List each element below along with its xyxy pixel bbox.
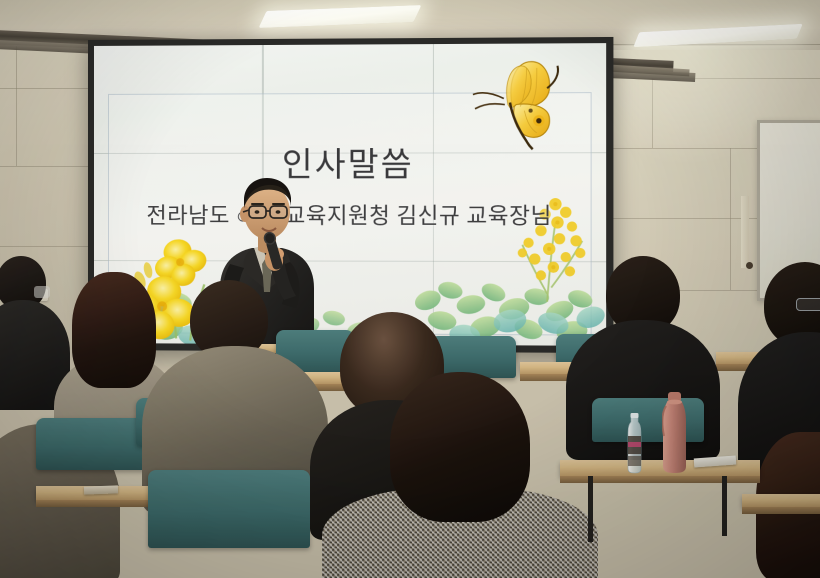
desk-leg-left	[588, 476, 593, 542]
water-bottle	[626, 412, 643, 474]
face-mask	[34, 286, 50, 298]
hair	[72, 272, 156, 388]
wall-trim	[741, 196, 749, 268]
wall-hook-icon	[746, 262, 753, 269]
hair	[390, 372, 530, 522]
tumbler	[662, 392, 687, 474]
desk-far-right-front	[742, 494, 820, 507]
attendee-houndstooth-woman	[336, 372, 586, 578]
chair-right-front[interactable]	[592, 398, 704, 442]
chair-center-front[interactable]	[148, 470, 310, 548]
chair-left-front[interactable]	[36, 418, 146, 470]
desk-leg-right	[722, 476, 727, 536]
slide-subtitle: 전라남도 ○○천교육지원청 김신규 교육장님	[94, 198, 606, 231]
glasses-icon	[796, 298, 820, 311]
slide-title: 인사말씀	[94, 137, 606, 186]
attendee-grey-jacket-man	[148, 280, 318, 500]
seminar-room-photo: 인사말씀 전라남도 ○○천교육지원청 김신규 교육장님	[0, 0, 820, 578]
book	[84, 485, 118, 494]
